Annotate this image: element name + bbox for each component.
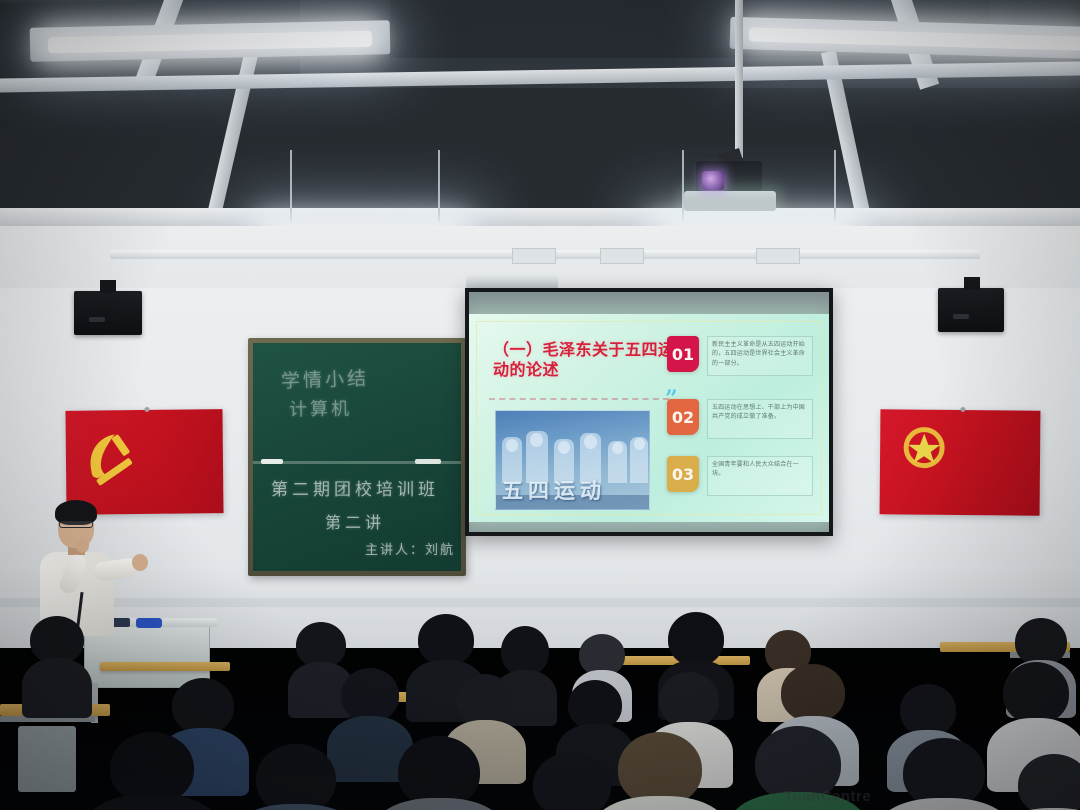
slide-title: （一）毛泽东关于五四运动的论述 [493,340,683,380]
rail-box [756,248,800,264]
classroom-scene: 学情小结 计算机 第二期团校培训班 第二讲 主讲人：刘航 [0,0,1080,810]
projection-screen: （一）毛泽东关于五四运动的论述 ” [465,288,833,536]
student-desk [100,662,230,671]
light-hanger [834,150,836,222]
point-text-01: 新民主主义革命是从五四运动开始的，五四运动是世界社会主义革命的一部分。 [707,336,813,376]
blackboard-text-line-2: 第二讲 [325,509,385,533]
point-badge-01: 01 [667,336,699,372]
projector-lens [702,171,724,190]
ceiling-panel [0,88,1080,218]
student [22,616,92,708]
slide-point-03: 03 全国青年要和人民大众结合在一块。 [667,456,813,496]
rail-box [512,248,556,264]
student [600,732,720,810]
seated-students [0,604,1080,810]
ceiling-beam [0,208,1080,226]
light-hanger [290,150,292,224]
hammer-and-sickle-icon [84,428,145,487]
rail-box [600,248,644,264]
ceiling-tube-light-upper-left [30,20,391,62]
blackboard-text-line-1: 第二期团校培训班 [271,475,439,500]
point-text-02: 五四运动在思想上、干部上为中国共产党的成立做了准备。 [707,399,813,439]
student [380,736,498,810]
student-chair [18,726,76,792]
lecturer-left-hand [76,538,89,553]
student [1002,754,1080,810]
chalk-piece [415,459,441,464]
ceiling-projector [684,155,776,211]
star-in-circle-icon [902,425,946,469]
blackboard-text-line-3: 主讲人：刘航 [365,539,455,558]
blackboard-text-top-1: 学情小结 [281,363,370,393]
blackboard: 学情小结 计算机 第二期团校培训班 第二讲 主讲人：刘航 [248,338,466,576]
slide-title-rule [489,398,669,400]
communist-youth-league-flag [880,409,1041,515]
light-hanger [438,150,440,224]
blackboard-text-top-2: 计算机 [289,394,352,421]
student [92,732,212,810]
lecturer-right-hand [132,554,148,571]
slide-point-01: 01 新民主主义革命是从五四运动开始的，五四运动是世界社会主义革命的一部分。 [667,336,813,376]
eyeglasses-icon [59,521,93,528]
point-text-03: 全国青年要和人民大众结合在一块。 [707,456,813,496]
chalk-piece [261,459,283,464]
ceiling [0,0,1080,232]
presentation-slide: （一）毛泽东关于五四运动的论述 ” [469,314,829,522]
student [884,738,1004,810]
slide-point-02: 02 五四运动在思想上、干部上为中国共产党的成立做了准备。 [667,399,813,439]
projector-mount-pole [735,0,743,158]
wall-speaker-left [74,291,142,335]
cpc-party-flag [65,409,223,515]
wall-speaker-right [938,288,1004,332]
projection-screen-case [466,274,558,288]
point-badge-03: 03 [667,456,699,492]
slide-historical-image: 五四运动 [495,410,650,510]
slide-image-caption: 五四运动 [502,475,643,505]
point-badge-02: 02 [667,399,699,435]
watermark: TuanCentre [784,788,871,805]
student [238,744,354,810]
